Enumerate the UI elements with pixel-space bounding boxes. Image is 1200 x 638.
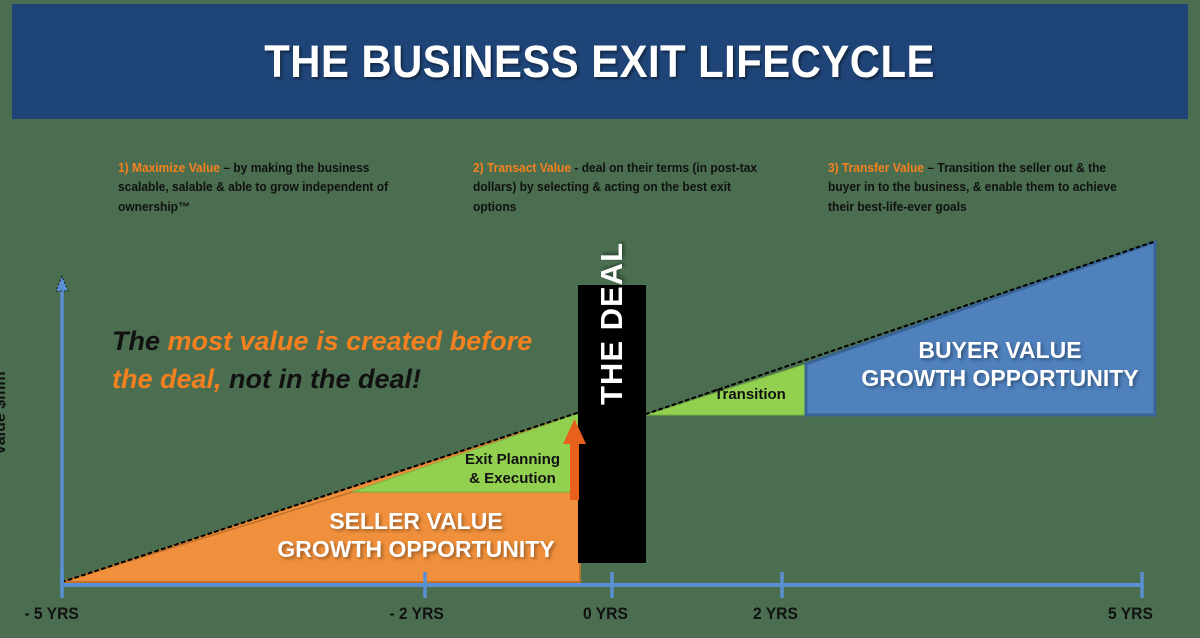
x-tick-label-5-yrs: 5 YRS <box>1108 604 1153 624</box>
the-deal-label: THE DEAL <box>594 285 630 405</box>
highlight-quote: The most value is created before the dea… <box>112 322 552 399</box>
exit-planning-label-line1: Exit Planning <box>455 451 570 470</box>
x-tick-label--2-yrs: - 2 YRS <box>389 604 443 624</box>
buyer-value-label: BUYER VALUE GROWTH OPPORTUNITY <box>850 336 1150 392</box>
seller-value-label: SELLER VALUE GROWTH OPPORTUNITY <box>266 507 566 563</box>
transition-label: Transition <box>705 386 795 405</box>
quote-part-1: The <box>112 326 168 356</box>
lifecycle-chart: Value $mm - 5 YRS - 2 YRS 0 YRS 2 YRS 5 … <box>0 0 1200 638</box>
exit-planning-label-line2: & Execution <box>455 470 570 489</box>
exit-planning-label: Exit Planning & Execution <box>455 451 570 489</box>
y-axis-label: Value $mm <box>0 371 10 455</box>
quote-part-2: not in the deal! <box>222 364 422 394</box>
x-tick-label--5-yrs: - 5 YRS <box>24 604 78 624</box>
x-tick-label-0-yrs: 0 YRS <box>583 604 628 624</box>
x-tick-label-2-yrs: 2 YRS <box>753 604 798 624</box>
seller-value-label-line2: GROWTH OPPORTUNITY <box>266 535 566 563</box>
infographic-canvas: THE BUSINESS EXIT LIFECYCLE 1) Maximize … <box>0 0 1200 638</box>
seller-value-label-line1: SELLER VALUE <box>266 507 566 535</box>
y-axis-arrow-icon <box>56 276 68 291</box>
buyer-value-label-line1: BUYER VALUE <box>850 336 1150 364</box>
buyer-value-label-line2: GROWTH OPPORTUNITY <box>850 364 1150 392</box>
